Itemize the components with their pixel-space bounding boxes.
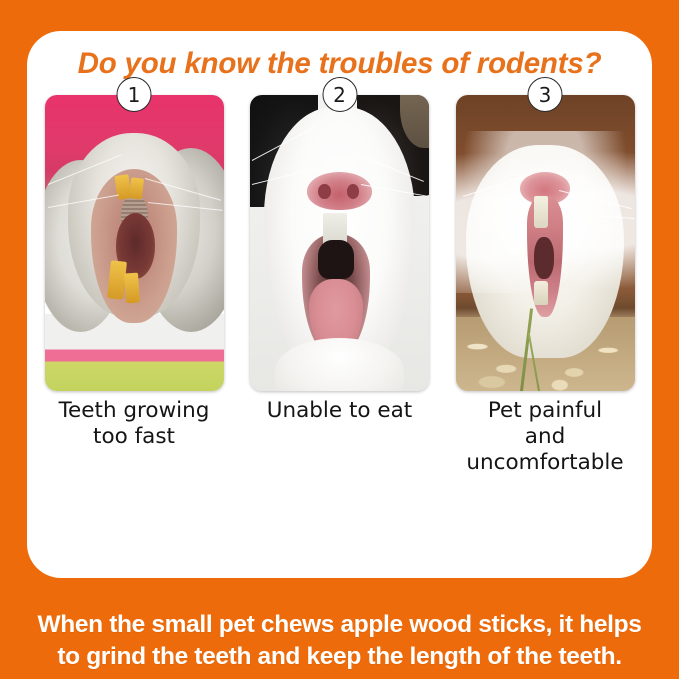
- product-infographic-poster: Do you know the troubles of rodents?: [0, 0, 679, 679]
- photo-wrapper-1: 1: [45, 95, 224, 391]
- step-number-badge-3: 3: [528, 77, 563, 112]
- overgrown-tooth-shape: [124, 272, 140, 303]
- trouble-cards-row: 1 Teeth growing too fast: [27, 95, 652, 476]
- step-number-badge-2: 2: [322, 77, 357, 112]
- photo-wrapper-3: 3: [456, 95, 635, 391]
- mouth-cavity-shape: [534, 237, 554, 278]
- trouble-card-2: 2 Unable to eat: [247, 95, 433, 476]
- trouble-card-3: 3 Pet painful and uncomfortable: [452, 95, 638, 476]
- step-number-badge-1: 1: [117, 77, 152, 112]
- mouth-cavity-shape: [318, 240, 354, 278]
- lower-incisor-shape: [534, 281, 547, 305]
- card-caption-1: Teeth growing too fast: [34, 398, 234, 450]
- upper-incisor-shape: [534, 196, 547, 229]
- trouble-card-1: 1 Teeth growing too fast: [41, 95, 227, 476]
- nostril-shape: [318, 184, 331, 199]
- white-rabbit-open-mouth-photo: [250, 95, 429, 391]
- page-title: Do you know the troubles of rodents?: [27, 47, 652, 81]
- rabbit-nose-shape: [307, 172, 371, 210]
- white-content-panel: Do you know the troubles of rodents?: [27, 31, 652, 578]
- photo-wrapper-2: 2: [250, 95, 429, 391]
- white-hamster-open-mouth-photo: [456, 95, 635, 391]
- card-caption-2: Unable to eat: [240, 398, 440, 424]
- nostril-shape: [347, 184, 360, 199]
- card-caption-3: Pet painful and uncomfortable: [445, 398, 645, 476]
- bottom-banner-text: When the small pet chews apple wood stic…: [0, 609, 679, 673]
- rodent-overgrown-teeth-photo: [45, 95, 224, 391]
